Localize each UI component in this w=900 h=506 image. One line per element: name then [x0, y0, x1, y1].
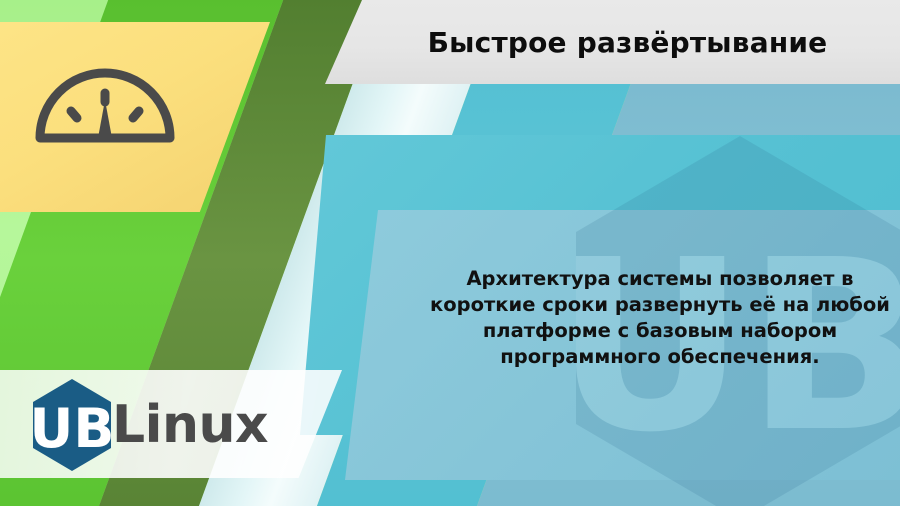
title-banner: Быстрое развёртывание	[325, 0, 900, 84]
logo-wordmark: Linux	[112, 399, 268, 451]
slide-root: UB Быстрое развёртывание Архитектура сис…	[0, 0, 900, 506]
speedometer-icon	[30, 45, 180, 150]
brand-logo: UB Linux	[30, 377, 268, 473]
logo-mark-text: UB	[30, 397, 114, 460]
page-title: Быстрое развёртывание	[398, 26, 828, 59]
ub-hexagon-icon: UB	[30, 377, 114, 473]
body-text: Архитектура системы позволяет в короткие…	[430, 266, 890, 371]
